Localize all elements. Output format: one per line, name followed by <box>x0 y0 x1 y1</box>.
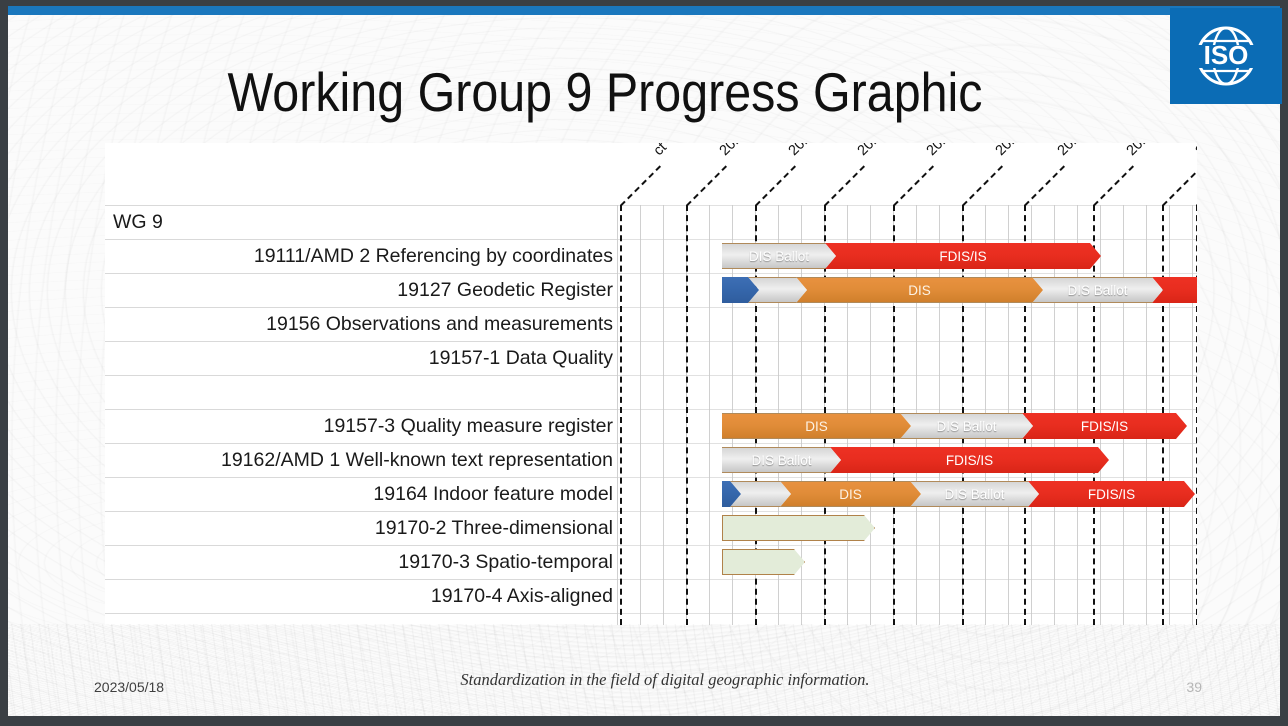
gantt-bar-segment[interactable]: DIS Ballot <box>722 447 841 473</box>
gantt-bar-row <box>617 511 1197 545</box>
axis-tick-label: 2023 Oct <box>924 143 977 159</box>
iso-logo-text: ISO <box>1204 40 1249 70</box>
gantt-row-label: 19170-3 Spatio-temporal <box>398 545 613 579</box>
gantt-bar-segment[interactable]: DIS Ballot <box>900 413 1033 439</box>
footer-note: Standardization in the field of digital … <box>430 670 900 690</box>
gantt-bar-segment[interactable]: FDIS/IS <box>830 447 1109 473</box>
gantt-row-label: 19111/AMD 2 Referencing by coordinates <box>254 239 613 273</box>
top-accent-bar <box>8 6 1280 15</box>
row-separator <box>105 375 617 376</box>
axis-tick-label: 2023 Jan <box>717 143 771 159</box>
row-separator <box>105 613 617 614</box>
axis-tick-label: 2023 Apr <box>786 143 838 159</box>
gantt-bar-segment[interactable]: FDIS/IS <box>1028 481 1195 507</box>
gantt-bar-segment[interactable]: DIS <box>722 413 911 439</box>
row-separator <box>105 205 617 206</box>
gantt-bar-row: DISDIS BallotFDIS/IS <box>617 409 1197 443</box>
gantt-bar-segment[interactable]: DIS Ballot <box>910 481 1039 507</box>
gantt-bar-row: DISDIS BallotFDIS/IS <box>617 273 1197 307</box>
gantt-row-label: 19164 Indoor feature model <box>373 477 613 511</box>
axis-tick-leader <box>824 165 865 206</box>
gantt-bar-segment[interactable]: FDIS/IS <box>825 243 1101 269</box>
gantt-bar-segment[interactable]: DIS Ballot <box>722 243 836 269</box>
axis-tick-leader <box>1162 165 1197 206</box>
gantt-bar-segment[interactable] <box>722 515 875 541</box>
gantt-bar-segment[interactable]: DIS <box>780 481 921 507</box>
gantt-row-label: 19170-4 Axis-aligned <box>431 579 613 613</box>
gantt-bar-row: DISDIS BallotFDIS/IS <box>617 477 1197 511</box>
gantt-bar-segment[interactable] <box>722 549 805 575</box>
gantt-row-label: 19170-2 Three-dimensional <box>375 511 613 545</box>
axis-tick-leader <box>620 165 661 206</box>
axis-tick-label: 2024 Jul <box>1124 143 1174 159</box>
page-title: Working Group 9 Progress Graphic <box>125 58 1084 126</box>
gantt-row-label: 19156 Observations and measurements <box>266 307 613 341</box>
gantt-plot-area: ct2023 Jan2023 Apr2023 Jul2023 Oct2024 J… <box>617 143 1197 625</box>
axis-tick-label: 2024 Oct <box>1193 143 1197 159</box>
axis-tick-leader <box>686 165 727 206</box>
footer-date: 2023/05/18 <box>94 679 164 695</box>
slide-canvas: ISO Working Group 9 Progress Graphic WG … <box>0 0 1288 726</box>
gantt-row-label: 19162/AMD 1 Well-known text representati… <box>221 443 613 477</box>
gantt-bar-row: DIS BallotFDIS/IS <box>617 443 1197 477</box>
axis-tick-leader <box>1093 165 1134 206</box>
axis-tick-label: ct <box>651 143 670 159</box>
gantt-bar-segment[interactable]: FDIS/IS <box>1022 413 1187 439</box>
footer-page-number: 39 <box>1186 679 1202 695</box>
axis-tick-leader <box>755 165 796 206</box>
axis-tick-leader <box>1024 165 1065 206</box>
axis-tick-leader <box>893 165 934 206</box>
axis-tick-leader <box>962 165 1003 206</box>
gantt-bar-segment[interactable]: DIS Ballot <box>1032 277 1163 303</box>
gantt-row-label: 19157-3 Quality measure register <box>324 409 613 443</box>
gantt-bar-row <box>617 545 1197 579</box>
iso-globe-icon: ISO <box>1189 19 1263 93</box>
axis-tick-label: 2024 Apr <box>1055 143 1107 159</box>
iso-logo: ISO <box>1170 8 1282 104</box>
gantt-row-label: 19127 Geodetic Register <box>397 273 613 307</box>
axis-tick-label: 2024 Jan <box>993 143 1047 159</box>
bottom-bar <box>8 716 1280 720</box>
gantt-bar-row: DIS BallotFDIS/IS <box>617 239 1197 273</box>
axis-tick-label: 2023 Jul <box>855 143 905 159</box>
gantt-row-label: WG 9 <box>113 205 163 239</box>
gantt-chart: WG 919111/AMD 2 Referencing by coordinat… <box>105 143 1197 625</box>
gantt-bar-segment[interactable]: DIS <box>796 277 1043 303</box>
gantt-row-label: 19157-1 Data Quality <box>429 341 613 375</box>
gantt-label-column: WG 919111/AMD 2 Referencing by coordinat… <box>105 143 617 625</box>
